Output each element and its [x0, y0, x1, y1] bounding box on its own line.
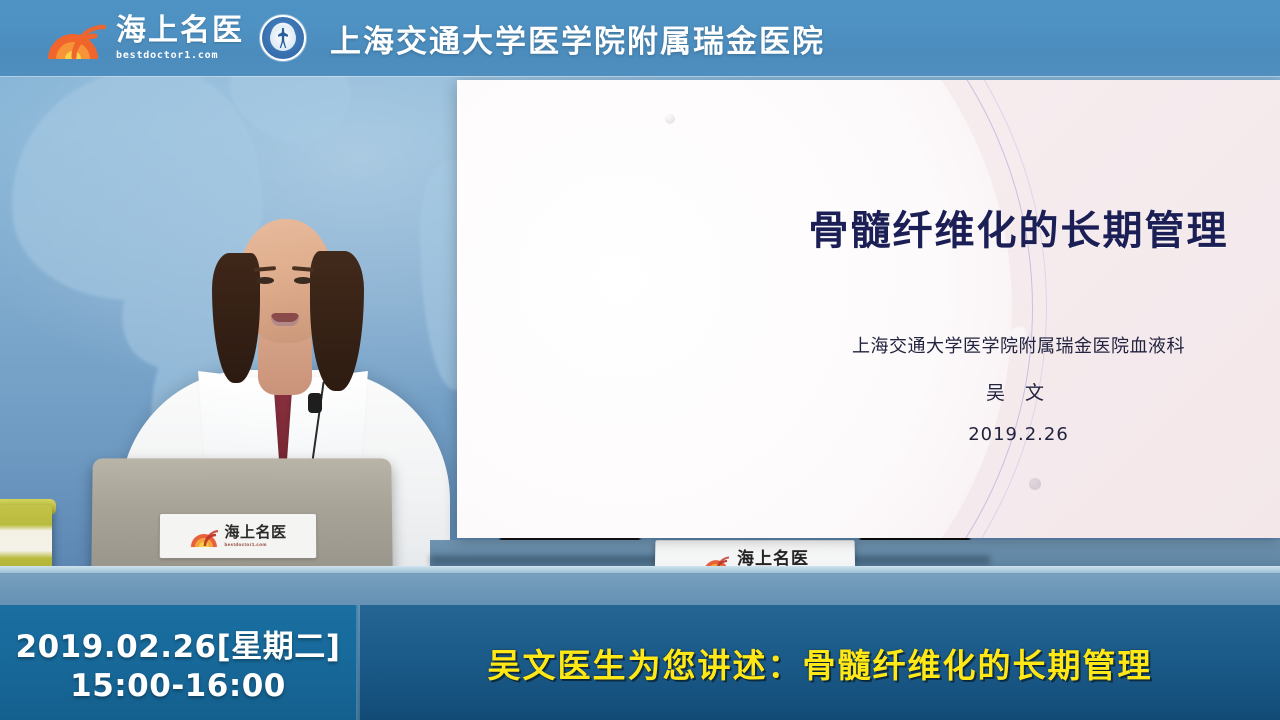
slide-date: 2019.2.26 — [757, 424, 1280, 445]
brand-name-cn: 海上名医 — [116, 16, 244, 46]
presenter-eye-right — [294, 277, 312, 284]
laptop-sticker-text: 海上名医 bestdoctor1.com — [224, 525, 286, 548]
presenter-eye-left — [256, 277, 274, 284]
slide-bubble-small — [665, 114, 675, 124]
slide-title: 骨髓纤维化的长期管理 — [757, 198, 1280, 256]
nameplate-brand-cn: 海上名医 — [737, 550, 809, 567]
schedule-banner: 2019.02.26[星期二] 15:00-16:00 — [0, 605, 358, 720]
presenter-hair-right — [310, 251, 364, 391]
slide-speaker-name: 吴 文 — [757, 378, 1280, 405]
brand-logo[interactable]: 海上名医 bestdoctor1.com — [44, 15, 244, 61]
schedule-date: 2019.02.26[星期二] — [16, 621, 341, 666]
laptop-sticker-brand-en: bestdoctor1.com — [224, 543, 266, 548]
emblem-figure-glyph — [278, 28, 288, 48]
brand-text: 海上名医 bestdoctor1.com — [116, 16, 244, 61]
desk-front-edge — [0, 566, 1280, 573]
video-player-stage: 海上名医 bestdoctor1.com 海上名医 bestdoctor1.co… — [0, 0, 1280, 720]
laptop: 海上名医 bestdoctor1.com — [91, 458, 393, 576]
slide-affiliation: 上海交通大学医学院附属瑞金医院血液科 — [757, 332, 1280, 358]
sunrise-wave-icon — [44, 15, 106, 61]
hospital-emblem-icon — [260, 15, 306, 61]
hospital-name: 上海交通大学医学院附属瑞金医院 — [330, 16, 825, 61]
topic-text: 吴文医生为您讲述：骨髓纤维化的长期管理 — [488, 639, 1153, 687]
lapel-mic-icon — [308, 393, 322, 413]
laptop-sticker-brand-cn: 海上名医 — [224, 525, 286, 540]
channel-header-bar: 海上名医 bestdoctor1.com 上海交通大学医学院附属瑞金医院 — [0, 0, 1280, 76]
slide-text-block: 骨髓纤维化的长期管理 上海交通大学医学院附属瑞金医院血液科 吴 文 2019.2… — [757, 80, 1280, 538]
presenter-mouth — [271, 313, 299, 326]
presentation-slide: 骨髓纤维化的长期管理 上海交通大学医学院附属瑞金医院血液科 吴 文 2019.2… — [457, 80, 1280, 538]
sunrise-wave-icon — [189, 523, 219, 549]
schedule-time: 15:00-16:00 — [70, 668, 286, 704]
presenter-hair-left — [212, 253, 260, 383]
laptop-brand-sticker: 海上名医 bestdoctor1.com — [160, 514, 317, 558]
brand-name-en: bestdoctor1.com — [116, 51, 218, 61]
topic-banner: 吴文医生为您讲述：骨髓纤维化的长期管理 — [360, 605, 1280, 720]
